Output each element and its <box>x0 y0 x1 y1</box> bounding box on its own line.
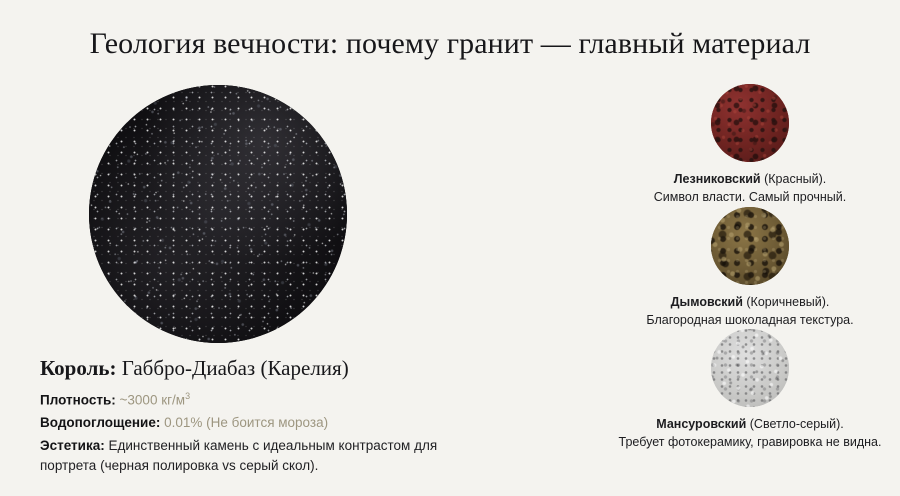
granite-sample-variant: (Светло-серый). <box>750 417 844 431</box>
hero-speckle-layer-d <box>89 85 347 343</box>
granite-sample-caption: Дымовский (Коричневый). Благородная шоко… <box>600 294 900 330</box>
granite-sample-caption: Лезниковский (Красный). Символ власти. С… <box>600 171 900 207</box>
spec-density: Плотность: ~3000 кг/м3 <box>40 390 500 411</box>
granite-sample-card: Лезниковский (Красный). Символ власти. С… <box>600 84 900 207</box>
granite-sample-card: Дымовский (Коричневый). Благородная шоко… <box>600 207 900 330</box>
granite-sample-variant: (Красный). <box>764 172 826 186</box>
spec-water-absorption-value: 0.01% (Не боится мороза) <box>164 415 328 430</box>
granite-sample-caption: Мансуровский (Светло-серый). Требует фот… <box>600 416 900 452</box>
red-granite-swatch <box>711 84 789 162</box>
hero-stone-swatch <box>89 85 347 343</box>
spec-water-absorption-label: Водопоглощение: <box>40 415 160 430</box>
spec-density-value: ~3000 кг/м <box>120 393 186 408</box>
grey-granite-swatch <box>711 329 789 407</box>
brown-granite-swatch <box>711 207 789 285</box>
brown-speckle-layer-c <box>711 207 789 285</box>
spec-water-absorption: Водопоглощение: 0.01% (Не боится мороза) <box>40 413 500 434</box>
granite-sample-description: Символ власти. Самый прочный. <box>600 189 900 206</box>
granite-sample-name: Дымовский <box>671 295 743 309</box>
grey-speckle-layer-b <box>711 329 789 407</box>
granite-sample-name: Лезниковский <box>674 172 761 186</box>
king-line: Король: Габбро-Диабаз (Карелия) <box>40 355 500 381</box>
spec-density-superscript: 3 <box>185 391 190 401</box>
spec-aesthetics-label: Эстетика: <box>40 438 105 453</box>
red-speckle-layer-b <box>711 84 789 162</box>
granite-sample-variant: (Коричневый). <box>746 295 829 309</box>
page-title: Геология вечности: почему гранит — главн… <box>0 26 900 61</box>
slide-root: Геология вечности: почему гранит — главн… <box>0 0 900 496</box>
spec-aesthetics: Эстетика: Единственный камень с идеальны… <box>40 436 470 477</box>
granite-sample-name: Мансуровский <box>656 417 746 431</box>
king-value: Габбро-Диабаз (Карелия) <box>122 356 349 380</box>
granite-sample-description: Благородная шоколадная текстура. <box>600 312 900 329</box>
granite-samples-column: Лезниковский (Красный). Символ власти. С… <box>600 84 900 452</box>
black-granite-texture <box>89 85 347 343</box>
hero-info-block: Король: Габбро-Диабаз (Карелия) Плотност… <box>40 355 500 478</box>
king-label: Король: <box>40 356 116 380</box>
granite-sample-card: Мансуровский (Светло-серый). Требует фот… <box>600 329 900 452</box>
spec-density-label: Плотность: <box>40 393 116 408</box>
granite-sample-description: Требует фотокерамику, гравировка не видн… <box>600 434 900 451</box>
